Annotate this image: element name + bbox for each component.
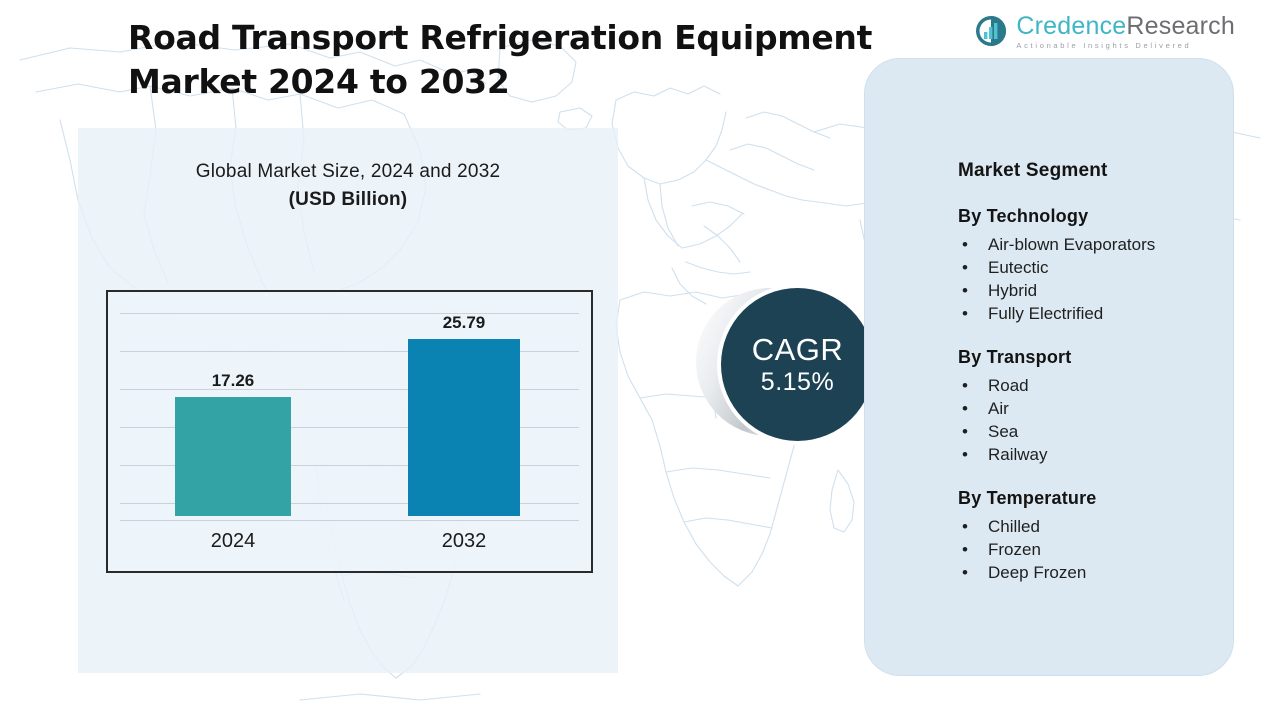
list-item: •Deep Frozen	[958, 561, 1228, 584]
bullet-icon: •	[962, 233, 968, 256]
bullet-icon: •	[962, 397, 968, 420]
list-item-label: Air-blown Evaporators	[988, 235, 1155, 254]
logo-word-secondary: Research	[1126, 12, 1235, 40]
list-item-label: Hybrid	[988, 281, 1037, 300]
bar-chart-circle-icon	[974, 14, 1008, 48]
list-item: •Air-blown Evaporators	[958, 233, 1228, 256]
segment-group-title: By Transport	[958, 347, 1228, 368]
list-item-label: Railway	[988, 445, 1048, 464]
segment-item-list: •Chilled •Frozen •Deep Frozen	[958, 515, 1228, 584]
chart-plot-area: 17.26 25.79 2024 2032	[108, 292, 591, 571]
segment-item-list: •Road •Air •Sea •Railway	[958, 374, 1228, 466]
logo-tagline: Actionable Insights Delivered	[1016, 41, 1235, 50]
bullet-icon: •	[962, 420, 968, 443]
bullet-icon: •	[962, 515, 968, 538]
bar-value-2032: 25.79	[408, 313, 520, 333]
bar-category-2032: 2032	[398, 530, 530, 553]
list-item-label: Fully Electrified	[988, 304, 1103, 323]
infographic-root: Road Transport Refrigeration Equipment M…	[0, 0, 1280, 720]
list-item-label: Road	[988, 376, 1029, 395]
list-item-label: Chilled	[988, 517, 1040, 536]
segment-group-technology: By Technology •Air-blown Evaporators •Eu…	[958, 206, 1228, 325]
list-item-label: Eutectic	[988, 258, 1048, 277]
list-item-label: Air	[988, 399, 1009, 418]
list-item: •Sea	[958, 420, 1228, 443]
segment-group-title: By Temperature	[958, 488, 1228, 509]
bullet-icon: •	[962, 443, 968, 466]
list-item-label: Frozen	[988, 540, 1041, 559]
chart-subtitle: (USD Billion)	[98, 186, 598, 214]
brand-logo: CredenceResearch Actionable Insights Del…	[974, 10, 1235, 52]
list-item: •Frozen	[958, 538, 1228, 561]
segment-group-title: By Technology	[958, 206, 1228, 227]
bullet-icon: •	[962, 279, 968, 302]
logo-word-primary: Credence	[1016, 12, 1126, 40]
segment-group-temperature: By Temperature •Chilled •Frozen •Deep Fr…	[958, 488, 1228, 584]
list-item: •Road	[958, 374, 1228, 397]
bullet-icon: •	[962, 538, 968, 561]
list-item: •Air	[958, 397, 1228, 420]
cagr-label: CAGR	[752, 333, 844, 367]
list-item-label: Sea	[988, 422, 1018, 441]
bullet-icon: •	[962, 561, 968, 584]
chart-title: Global Market Size, 2024 and 2032	[98, 158, 598, 186]
list-item: •Chilled	[958, 515, 1228, 538]
list-item-label: Deep Frozen	[988, 563, 1086, 582]
segment-item-list: •Air-blown Evaporators •Eutectic •Hybrid…	[958, 233, 1228, 325]
list-item: •Fully Electrified	[958, 302, 1228, 325]
bullet-icon: •	[962, 374, 968, 397]
chart-caption: Global Market Size, 2024 and 2032 (USD B…	[98, 158, 598, 214]
segment-group-transport: By Transport •Road •Air •Sea •Railway	[958, 347, 1228, 466]
cagr-value: 5.15%	[761, 367, 834, 397]
list-item: •Eutectic	[958, 256, 1228, 279]
bar-category-2024: 2024	[165, 530, 301, 553]
list-item: •Hybrid	[958, 279, 1228, 302]
market-segment-heading: Market Segment	[958, 160, 1228, 182]
bar-2024	[175, 397, 291, 516]
bar-2032	[408, 339, 520, 516]
bullet-icon: •	[962, 302, 968, 325]
bullet-icon: •	[962, 256, 968, 279]
bar-chart: 17.26 25.79 2024 2032	[106, 290, 593, 573]
cagr-badge: CAGR 5.15%	[721, 288, 874, 441]
list-item: •Railway	[958, 443, 1228, 466]
market-segment-content: Market Segment By Technology •Air-blown …	[958, 160, 1228, 584]
bar-value-2024: 17.26	[175, 371, 291, 391]
